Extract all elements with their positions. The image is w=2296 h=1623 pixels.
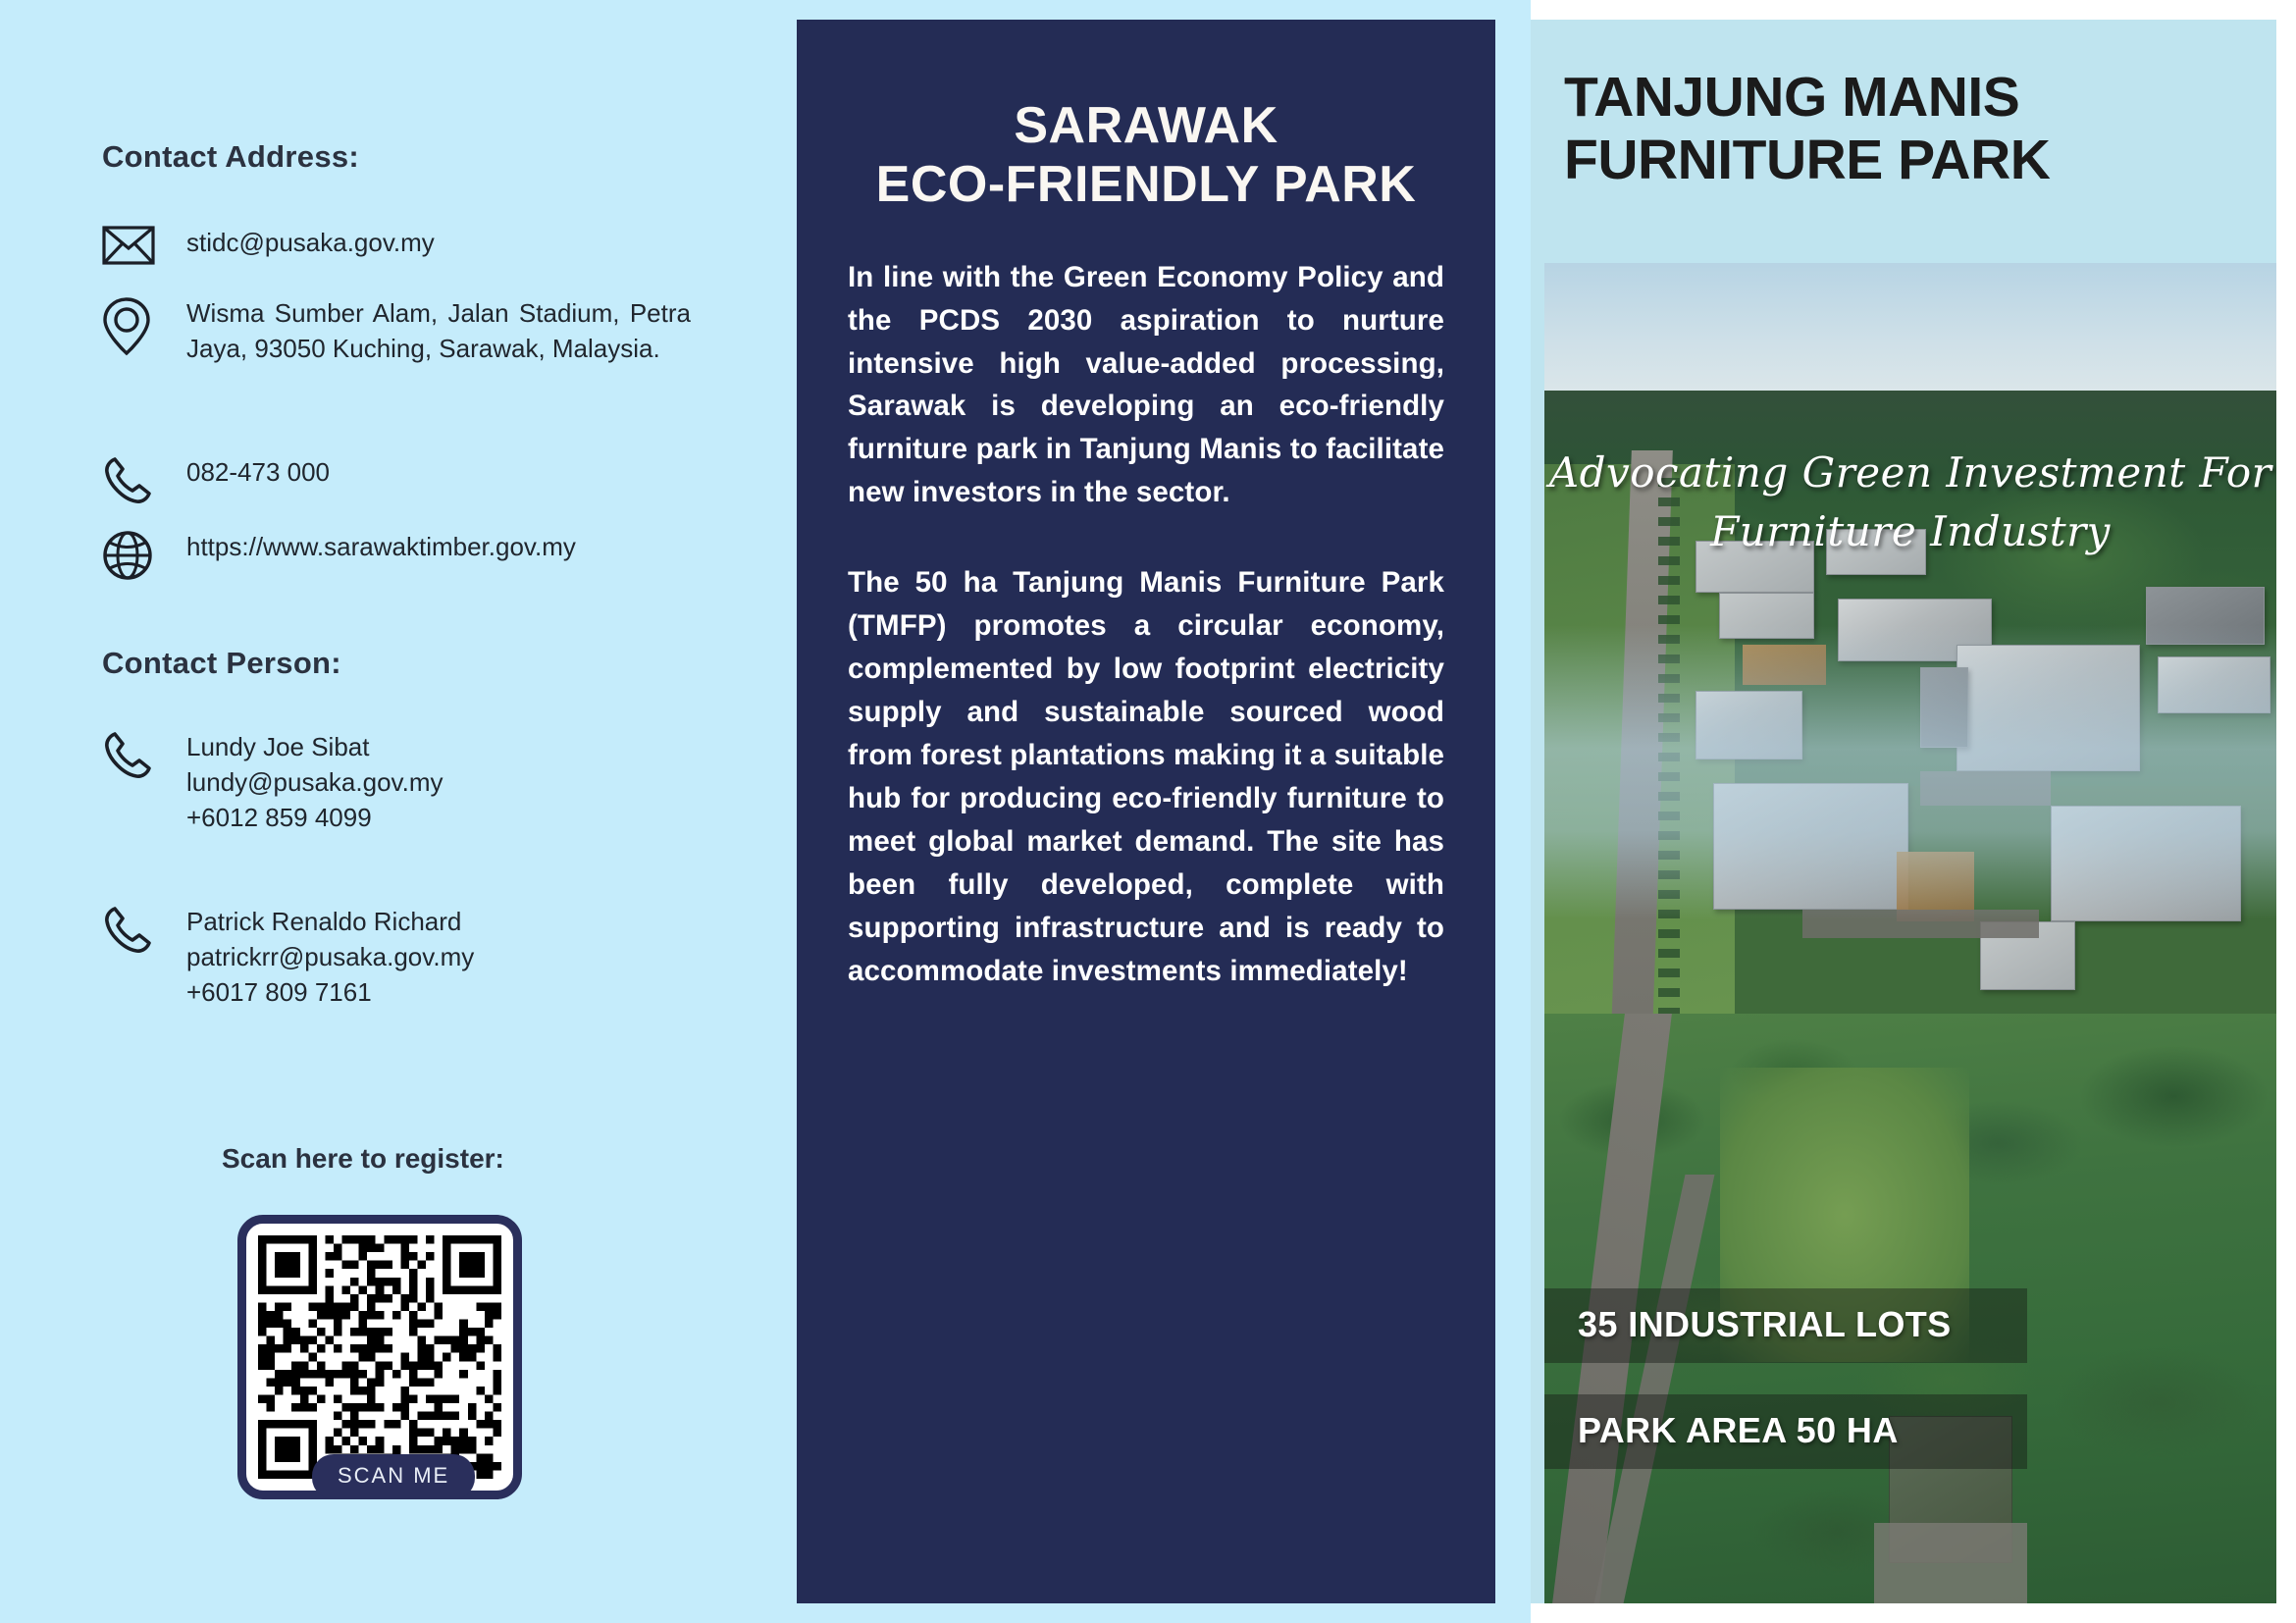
website-value[interactable]: https://www.sarawaktimber.gov.my [186, 528, 691, 565]
photo-pavement [1920, 771, 2051, 806]
phone-icon [102, 453, 186, 506]
contact-phone-row: 082-473 000 [102, 453, 691, 506]
stat-park-area: PARK AREA 50 HA [1544, 1394, 2027, 1469]
cover-title-line-2: FURNITURE PARK [1564, 130, 2243, 192]
scan-here-label: Scan here to register: [222, 1143, 504, 1175]
description-paragraph-2: The 50 ha Tanjung Manis Furniture Park (… [848, 561, 1444, 993]
contact-person-row-2: Patrick Renaldo Richard patrickrr@pusaka… [102, 903, 691, 1011]
envelope-icon [102, 224, 186, 265]
stat-industrial-lots: 35 INDUSTRIAL LOTS [1544, 1288, 2027, 1363]
page-title: SARAWAK ECO-FRIENDLY PARK [848, 96, 1444, 215]
email-value[interactable]: stidc@pusaka.gov.my [186, 224, 691, 261]
photo-warehouse [2051, 806, 2240, 920]
contact-address-heading: Contact Address: [102, 139, 359, 175]
person-1-phone[interactable]: +6012 859 4099 [186, 803, 372, 832]
qr-code-canvas [258, 1235, 501, 1479]
photo-industrial-zone [1684, 518, 2276, 1094]
brochure-trifold: Contact Address: stidc@pusaka.gov.my Wis… [0, 0, 2296, 1623]
photo-warehouse [1713, 783, 1908, 910]
cover-title: TANJUNG MANIS FURNITURE PARK [1531, 20, 2276, 192]
cover-panel: TANJUNG MANIS FURNITURE PARK [1531, 0, 2296, 1623]
address-value: Wisma Sumber Alam, Jalan Stadium, Petra … [186, 294, 691, 367]
phone-icon [102, 903, 186, 956]
person-1-name: Lundy Joe Sibat [186, 732, 369, 761]
title-line-2: ECO-FRIENDLY PARK [848, 155, 1444, 214]
photo-foreground-lot [1874, 1523, 2028, 1603]
person-2-phone[interactable]: +6017 809 7161 [186, 977, 372, 1007]
aerial-photo-industrial-park: Advocating Green Investment For Furnitur… [1544, 263, 2276, 1603]
description-paragraph-1: In line with the Green Economy Policy an… [848, 256, 1444, 515]
photo-warehouse [1696, 691, 1802, 759]
location-pin-icon [102, 294, 186, 357]
tagline-line-2: Furniture Industry [1544, 502, 2276, 561]
cover-title-line-1: TANJUNG MANIS [1564, 67, 2243, 130]
tagline-script: Advocating Green Investment For Furnitur… [1544, 444, 2276, 560]
person-1-email[interactable]: lundy@pusaka.gov.my [186, 767, 444, 797]
photo-timber-yard [1743, 645, 1826, 685]
photo-warehouse [1957, 645, 2140, 771]
globe-icon [102, 528, 186, 581]
photo-warehouse [2158, 656, 2270, 714]
contact-panel: Contact Address: stidc@pusaka.gov.my Wis… [0, 0, 746, 1623]
photo-pavement [1802, 910, 2040, 938]
photo-warehouse [1719, 593, 1814, 639]
photo-sky [1544, 263, 2276, 410]
tagline-line-1: Advocating Green Investment For [1544, 444, 2276, 502]
person-2-email[interactable]: patrickrr@pusaka.gov.my [186, 942, 474, 971]
contact-person-heading: Contact Person: [102, 646, 341, 681]
contact-email-row: stidc@pusaka.gov.my [102, 224, 691, 265]
person-2-name: Patrick Renaldo Richard [186, 907, 461, 936]
photo-warehouse [2146, 587, 2265, 645]
title-line-1: SARAWAK [848, 96, 1444, 155]
contact-address-row: Wisma Sumber Alam, Jalan Stadium, Petra … [102, 294, 691, 367]
description-card: SARAWAK ECO-FRIENDLY PARK In line with t… [797, 20, 1495, 1603]
contact-website-row: https://www.sarawaktimber.gov.my [102, 528, 691, 581]
cover-card: TANJUNG MANIS FURNITURE PARK [1531, 20, 2276, 1603]
description-panel: SARAWAK ECO-FRIENDLY PARK In line with t… [746, 0, 1531, 1623]
phone-value[interactable]: 082-473 000 [186, 453, 691, 491]
contact-person-row-1: Lundy Joe Sibat lundy@pusaka.gov.my +601… [102, 728, 691, 836]
photo-warehouse [1920, 667, 1967, 748]
scan-me-badge: SCAN ME [312, 1454, 475, 1499]
phone-icon [102, 728, 186, 781]
